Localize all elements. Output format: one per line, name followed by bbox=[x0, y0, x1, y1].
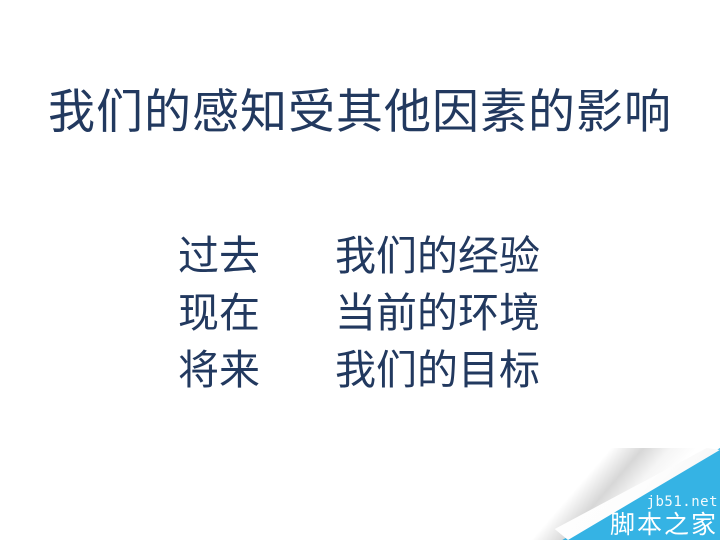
content-list: 过去 我们的经验 现在 当前的环境 将来 我们的目标 bbox=[178, 228, 578, 399]
page-title: 我们的感知受其他因素的影响 bbox=[0, 84, 720, 142]
watermark-triangle bbox=[530, 448, 720, 540]
list-item-term: 现在 bbox=[178, 285, 335, 342]
list-item-term: 将来 bbox=[178, 342, 335, 399]
list-item-description: 当前的环境 bbox=[335, 285, 540, 342]
list-item: 现在 当前的环境 bbox=[178, 285, 578, 342]
list-item-description: 我们的经验 bbox=[335, 228, 540, 285]
list-item-description: 我们的目标 bbox=[335, 342, 540, 399]
watermark-page-fold-icon bbox=[530, 448, 720, 540]
watermark-site-name: 脚本之家 bbox=[610, 510, 718, 540]
watermark-url: jb51.net bbox=[610, 494, 718, 510]
watermark-shadow bbox=[530, 448, 720, 540]
list-item: 过去 我们的经验 bbox=[178, 228, 578, 285]
list-item-term: 过去 bbox=[178, 228, 335, 285]
list-item: 将来 我们的目标 bbox=[178, 342, 578, 399]
slide: 我们的感知受其他因素的影响 过去 我们的经验 现在 当前的环境 将来 我们的目标… bbox=[0, 0, 720, 540]
watermark-text: jb51.net 脚本之家 bbox=[610, 494, 718, 540]
corner-watermark: jb51.net 脚本之家 bbox=[530, 448, 720, 540]
